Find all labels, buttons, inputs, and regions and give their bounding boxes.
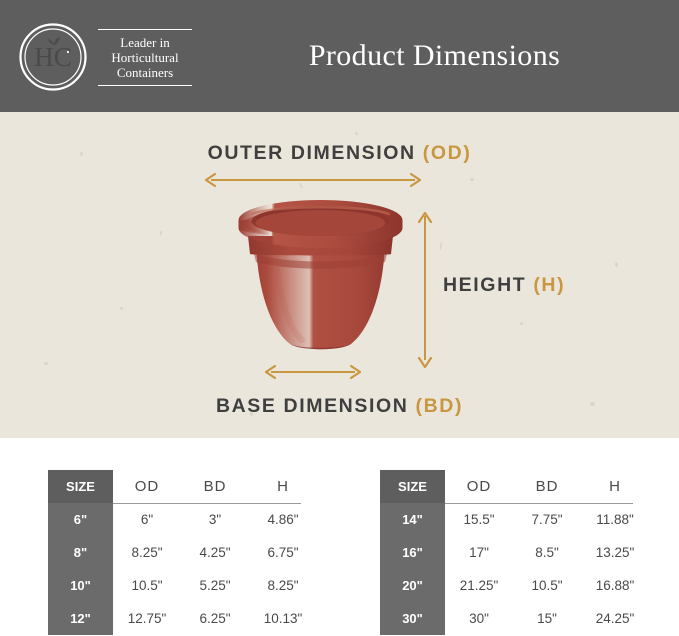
- product-dimensions-diagram: OUTER DIMENSION (OD): [0, 112, 679, 438]
- texture-speck: [44, 362, 48, 365]
- cell-od: 6": [113, 503, 181, 536]
- brand-tagline: Leader in Horticultural Containers: [98, 29, 192, 86]
- cell-size: 12": [48, 602, 113, 635]
- outer-dimension-label: OUTER DIMENSION (OD): [0, 142, 679, 165]
- outer-dimension-abbr: (OD): [423, 142, 472, 164]
- arrow-head-left: [205, 173, 216, 187]
- table-row: 30" 30" 15" 24.25": [380, 602, 649, 635]
- cell-od: 15.5": [445, 503, 513, 536]
- svg-text:HC: HC: [34, 42, 72, 72]
- cell-size: 14": [380, 503, 445, 536]
- table-row: 10" 10.5" 5.25" 8.25": [48, 569, 317, 602]
- cell-h: 10.13": [249, 602, 317, 635]
- base-dimension-abbr: (BD): [415, 395, 463, 417]
- table-header-rule: [113, 503, 301, 504]
- cell-bd: 7.75": [513, 503, 581, 536]
- base-dimension-label: BASE DIMENSION (BD): [0, 395, 679, 418]
- column-header-size: SIZE: [48, 470, 113, 503]
- column-header-bd: BD: [513, 470, 581, 503]
- cell-bd: 5.25": [181, 569, 249, 602]
- outer-dimension-arrow: [205, 173, 421, 187]
- arrow-head-left: [265, 365, 276, 379]
- dimension-table-small-sizes: SIZE OD BD H 6" 6" 3" 4.86" 8" 8.25" 4.2…: [48, 470, 317, 635]
- cell-size: 6": [48, 503, 113, 536]
- column-header-od: OD: [445, 470, 513, 503]
- cell-h: 24.25": [581, 602, 649, 635]
- table-row: 20" 21.25" 10.5" 16.88": [380, 569, 649, 602]
- arrow-head-right: [350, 365, 361, 379]
- cell-bd: 10.5": [513, 569, 581, 602]
- height-text: HEIGHT: [443, 274, 526, 296]
- base-dimension-text: BASE DIMENSION: [216, 395, 409, 417]
- outer-dimension-text: OUTER DIMENSION: [208, 142, 416, 164]
- cell-od: 17": [445, 536, 513, 569]
- cell-size: 30": [380, 602, 445, 635]
- table-body: 6" 6" 3" 4.86" 8" 8.25" 4.25" 6.75" 10" …: [48, 503, 317, 635]
- column-header-h: H: [581, 470, 649, 503]
- cell-h: 11.88": [581, 503, 649, 536]
- column-header-h: H: [249, 470, 317, 503]
- hc-logo-icon: HC: [18, 22, 88, 92]
- dimension-table-large-sizes: SIZE OD BD H 14" 15.5" 7.75" 11.88" 16" …: [380, 470, 649, 635]
- cell-h: 8.25": [249, 569, 317, 602]
- texture-speck: [470, 178, 474, 181]
- column-header-bd: BD: [181, 470, 249, 503]
- height-arrow: [418, 210, 432, 366]
- cell-size: 8": [48, 536, 113, 569]
- table-header: SIZE OD BD H: [380, 470, 649, 503]
- arrow-head-up: [418, 210, 432, 221]
- table-header-rule: [445, 503, 633, 504]
- arrow-shaft: [271, 371, 355, 373]
- cell-od: 8.25": [113, 536, 181, 569]
- cell-h: 6.75": [249, 536, 317, 569]
- arrow-shaft: [211, 179, 415, 181]
- column-header-size: SIZE: [380, 470, 445, 503]
- height-abbr: (H): [533, 274, 565, 296]
- texture-speck: [355, 132, 358, 135]
- cell-h: 4.86": [249, 503, 317, 536]
- cell-od: 21.25": [445, 569, 513, 602]
- cell-bd: 4.25": [181, 536, 249, 569]
- table-header-row: SIZE OD BD H: [48, 470, 317, 503]
- cell-bd: 6.25": [181, 602, 249, 635]
- dimension-tables: SIZE OD BD H 6" 6" 3" 4.86" 8" 8.25" 4.2…: [0, 470, 679, 636]
- arrow-head-right: [410, 173, 421, 187]
- table-row: 8" 8.25" 4.25" 6.75": [48, 536, 317, 569]
- texture-speck: [120, 307, 123, 310]
- brand-logo: HC Leader in Horticultural Containers: [18, 22, 192, 92]
- table-header-row: SIZE OD BD H: [380, 470, 649, 503]
- cell-bd: 8.5": [513, 536, 581, 569]
- base-dimension-arrow: [265, 365, 361, 379]
- cell-od: 12.75": [113, 602, 181, 635]
- column-header-od: OD: [113, 470, 181, 503]
- table-body: 14" 15.5" 7.75" 11.88" 16" 17" 8.5" 13.2…: [380, 503, 649, 635]
- cell-size: 20": [380, 569, 445, 602]
- cell-h: 13.25": [581, 536, 649, 569]
- texture-speck: [615, 262, 618, 267]
- height-label: HEIGHT (H): [443, 274, 565, 297]
- table-row: 12" 12.75" 6.25" 10.13": [48, 602, 317, 635]
- cell-od: 30": [445, 602, 513, 635]
- table-row: 6" 6" 3" 4.86": [48, 503, 317, 536]
- cell-size: 16": [380, 536, 445, 569]
- table-row: 14" 15.5" 7.75" 11.88": [380, 503, 649, 536]
- arrow-shaft: [424, 216, 426, 360]
- cell-bd: 3": [181, 503, 249, 536]
- table-header: SIZE OD BD H: [48, 470, 317, 503]
- cell-bd: 15": [513, 602, 581, 635]
- flower-pot-illustration: [228, 198, 413, 370]
- texture-speck: [520, 322, 523, 325]
- arrow-head-down: [418, 355, 432, 366]
- cell-size: 10": [48, 569, 113, 602]
- table-row: 16" 17" 8.5" 13.25": [380, 536, 649, 569]
- cell-h: 16.88": [581, 569, 649, 602]
- page-header: HC Leader in Horticultural Containers Pr…: [0, 0, 679, 112]
- cell-od: 10.5": [113, 569, 181, 602]
